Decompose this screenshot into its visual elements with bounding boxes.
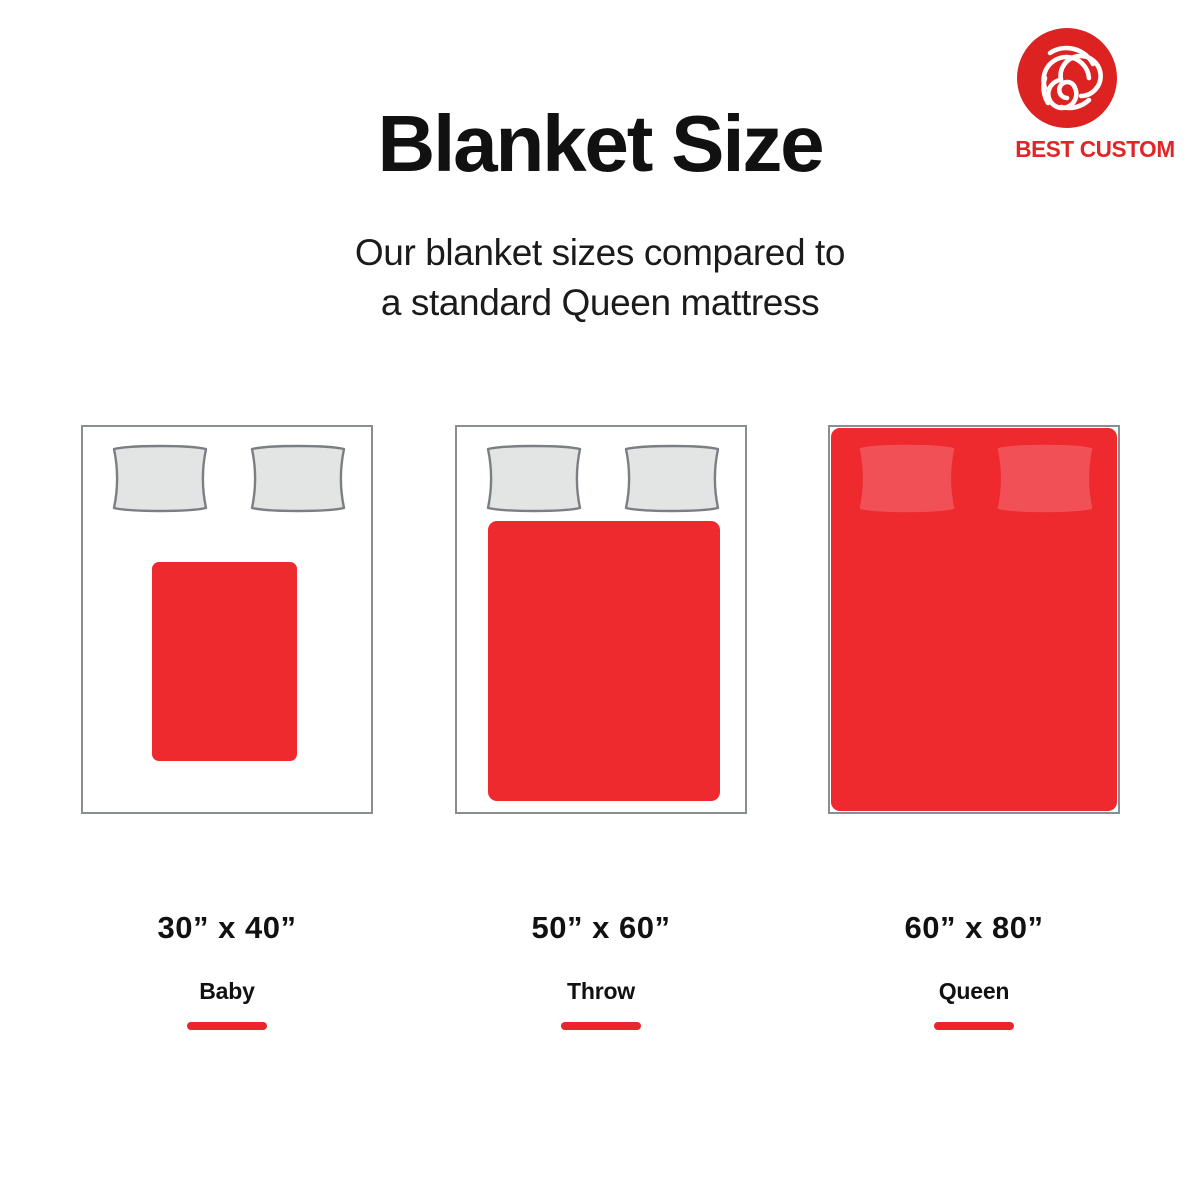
pillow-right: [622, 443, 722, 514]
pillow-left: [484, 443, 584, 514]
accent-underline-throw: [561, 1022, 641, 1030]
pillow-right: [995, 443, 1095, 514]
pillow-left: [857, 443, 957, 514]
size-label-throw: 50” x 60”: [455, 910, 747, 946]
page-subtitle: Our blanket sizes compared to a standard…: [0, 228, 1200, 328]
type-label-baby: Baby: [81, 978, 373, 1005]
pillow-right: [248, 443, 348, 514]
page-title: Blanket Size: [0, 104, 1200, 184]
size-label-queen: 60” x 80”: [828, 910, 1120, 946]
accent-underline-queen: [934, 1022, 1014, 1030]
size-label-baby: 30” x 40”: [81, 910, 373, 946]
type-label-queen: Queen: [828, 978, 1120, 1005]
type-label-throw: Throw: [455, 978, 747, 1005]
pillow-left: [110, 443, 210, 514]
accent-underline-baby: [187, 1022, 267, 1030]
blanket-throw: [488, 521, 720, 801]
blanket-baby: [152, 562, 297, 761]
